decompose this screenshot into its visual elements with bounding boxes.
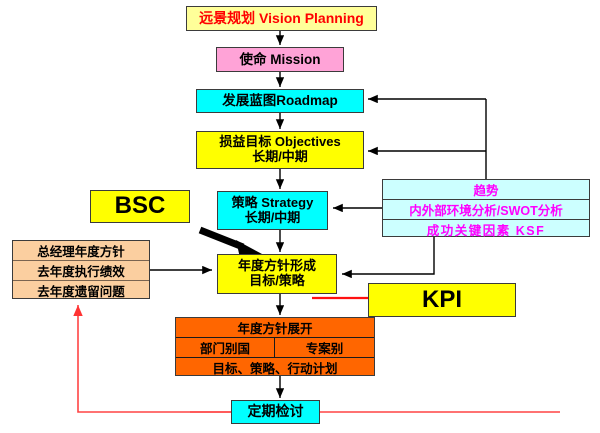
node-deploy-stack[interactable]: 年度方针展开 部门别国 专案别 目标、策略、行动计划: [175, 317, 375, 376]
node-roadmap[interactable]: 发展蓝图Roadmap: [196, 89, 364, 113]
node-bsc[interactable]: BSC: [90, 190, 190, 223]
node-kpi[interactable]: KPI: [368, 283, 516, 317]
node-inputs-stack[interactable]: 总经理年度方针 去年度执行绩效 去年度遗留问题: [12, 240, 150, 299]
node-objectives[interactable]: 损益目标 Objectives 长期/中期: [196, 131, 364, 169]
node-trend-row-2: 内外部环境分析/SWOT分析: [383, 200, 589, 220]
node-inputs-row-2: 去年度执行绩效: [13, 261, 149, 281]
node-mission[interactable]: 使命 Mission: [216, 47, 344, 72]
node-review-label: 定期检讨: [232, 404, 319, 420]
connector-trend-to-annual-policy: [342, 237, 434, 274]
node-inputs-row-3: 去年度遗留问题: [13, 281, 149, 300]
node-objectives-line1: 损益目标 Objectives: [197, 135, 363, 150]
node-periodic-review[interactable]: 定期检讨: [231, 400, 320, 424]
node-mission-label: 使命 Mission: [217, 52, 343, 67]
node-trend-stack[interactable]: 趋势 内外部环境分析/SWOT分析 成功关键因素 KSF: [382, 179, 590, 237]
node-vision-label: 远景规划 Vision Planning: [187, 11, 376, 27]
node-strategy-line1: 策略 Strategy: [218, 196, 327, 211]
node-kpi-label: KPI: [369, 287, 515, 314]
node-strategy-line2: 长期/中期: [218, 211, 327, 226]
node-deploy-row-2-left: 部门别国: [176, 338, 275, 357]
node-strategy[interactable]: 策略 Strategy 长期/中期: [217, 191, 328, 230]
node-annual-policy-line1: 年度方针形成: [218, 259, 336, 274]
node-vision-planning[interactable]: 远景规划 Vision Planning: [186, 6, 377, 31]
node-deploy-row-2: 部门别国 专案别: [176, 338, 374, 358]
node-deploy-row-2-right: 专案别: [275, 338, 374, 357]
node-trend-row-3: 成功关键因素 KSF: [383, 220, 589, 239]
node-deploy-row-1: 年度方针展开: [176, 318, 374, 338]
node-deploy-row-3: 目标、策略、行动计划: [176, 358, 374, 377]
node-annual-policy-line2: 目标/策略: [218, 274, 336, 289]
node-objectives-line2: 长期/中期: [197, 150, 363, 165]
node-bsc-label: BSC: [91, 193, 189, 220]
node-trend-row-1: 趋势: [383, 180, 589, 200]
node-annual-policy[interactable]: 年度方针形成 目标/策略: [217, 254, 337, 294]
node-inputs-row-1: 总经理年度方针: [13, 241, 149, 261]
node-roadmap-label: 发展蓝图Roadmap: [197, 93, 363, 108]
